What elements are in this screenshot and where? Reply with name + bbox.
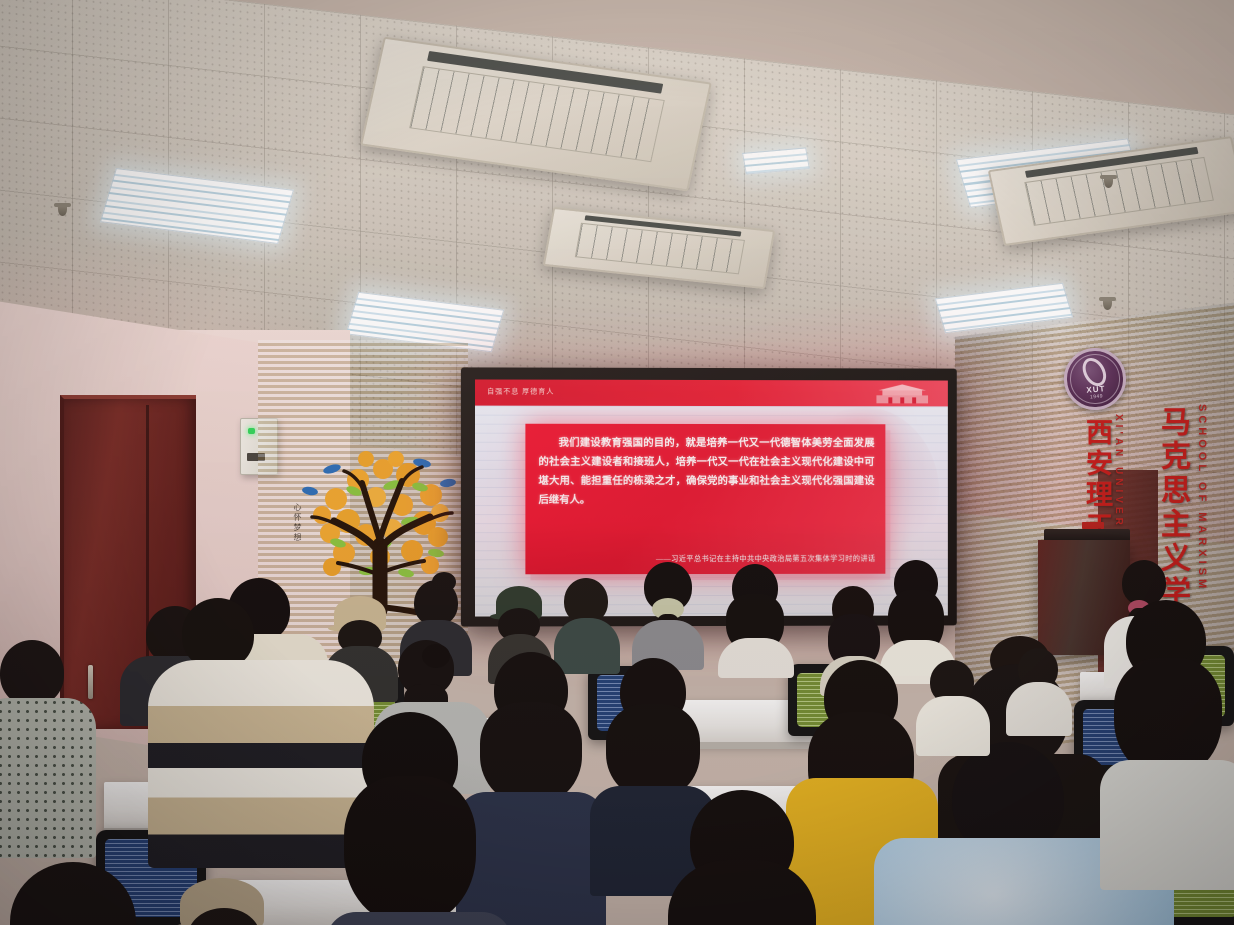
slide-quote-attribution: ——习近平总书记在主持中共中央政治局第五次集体学习时的讲话 — [656, 554, 876, 564]
slide-header-band: 自强不息 厚德育人 — [475, 379, 948, 406]
head — [1122, 560, 1166, 606]
torso — [456, 792, 606, 925]
power-indicator-led — [248, 428, 255, 434]
torso — [1100, 760, 1234, 890]
sprinkler-head — [58, 203, 67, 216]
projection-screen-frame: 自强不息 厚德育人 我们建设教育强国的目的，就是培养一代又一代德智体美劳全面发展… — [461, 367, 957, 626]
slide-quote-card: 我们建设教育强国的目的，就是培养一代又一代德智体美劳全面发展的社会主义建设者和接… — [525, 424, 885, 575]
head — [0, 640, 64, 706]
hair-bun — [432, 572, 456, 592]
mural-caption: 心怀梦想 — [292, 503, 303, 543]
torso — [326, 912, 512, 925]
torso — [1006, 682, 1072, 736]
slide-quote-text: 我们建设教育强国的目的，就是培养一代又一代德智体美劳全面发展的社会主义建设者和接… — [538, 434, 874, 510]
sprinkler-head — [1104, 175, 1113, 188]
tiananmen-gate-icon — [870, 383, 934, 403]
torso — [554, 618, 620, 674]
projection-screen: 自强不息 厚德育人 我们建设教育强国的目的，就是培养一代又一代德智体美劳全面发展… — [475, 379, 948, 616]
torso-striped — [148, 660, 374, 868]
presentation-slide: 自强不息 厚德育人 我们建设教育强国的目的，就是培养一代又一代德智体美劳全面发展… — [475, 379, 948, 616]
signage-school-en: SCHOOL OF MARXISM — [1196, 404, 1208, 592]
torso — [718, 638, 794, 678]
slide-kicker-text: 自强不息 厚德育人 — [487, 387, 554, 397]
door-handle[interactable] — [88, 665, 93, 699]
lecture-hall-photo: 心怀梦想 XUT 1949 西安理工 XI'AN UNIVERSITY 马克思主… — [0, 0, 1234, 925]
sprinkler-head — [1103, 297, 1112, 310]
hair-bun — [422, 644, 450, 668]
torso-floral — [0, 698, 96, 858]
hair-long — [480, 702, 582, 806]
hair-long — [344, 776, 476, 925]
torso — [916, 696, 990, 756]
